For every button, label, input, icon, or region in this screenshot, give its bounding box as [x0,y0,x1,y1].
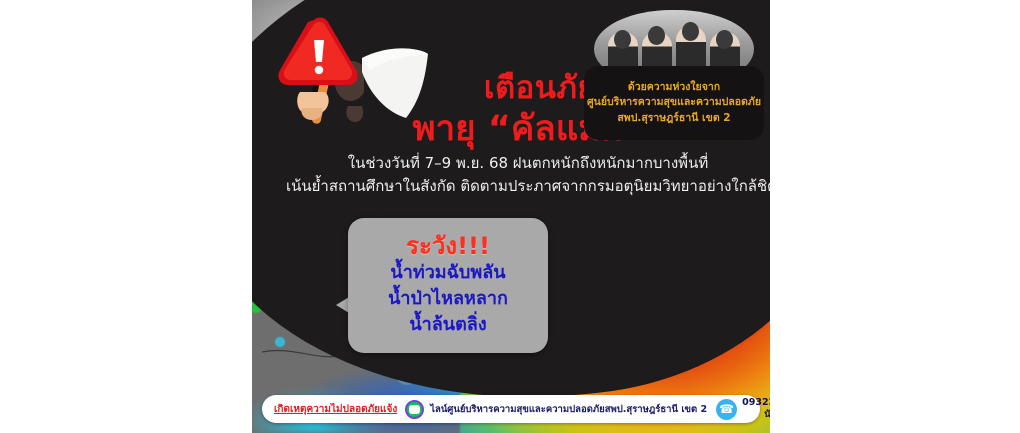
credit-line-3: สพป.สุราษฎร์ธานี เขต 2 [617,111,730,126]
contact-bar[interactable]: เกิดเหตุความไม่ปลอดภัยแจ้ง ไลน์ศูนย์บริห… [262,395,760,423]
screenshot-canvas: Puerto Princesa เตือนภัย พายุ “คัลแมกี” … [0,0,1020,433]
callout-item-0: น้ำท่วมฉับพลัน [390,260,505,286]
phone-role: นักจิตวิทยาโรงเรียนฯ [742,409,770,421]
credit-line-2: ศูนย์บริหารความสุขและความปลอดภัย [587,95,761,110]
credit-text-pill: ด้วยความห่วงใยจาก ศูนย์บริหารความสุขและค… [584,66,764,140]
callout-item-1: น้ำป่าไหลหลาก [388,286,508,312]
phone-number: 0932266415 แก้ว พรหมแก้ว [742,397,770,409]
report-incident-label[interactable]: เกิดเหตุความไม่ปลอดภัยแจ้ง [274,402,397,417]
credit-badge: ด้วยความห่วงใยจาก ศูนย์บริหารความสุขและค… [584,4,764,140]
poster-subtext: ในช่วงวันที่ 7–9 พ.ย. 68 ฝนตกหนักถึงหนัก… [286,152,770,197]
callout-item-2: น้ำล้นตลิ่ง [409,312,486,338]
subtext-line-1: ในช่วงวันที่ 7–9 พ.ย. 68 ฝนตกหนักถึงหนัก… [286,152,770,175]
phone-icon[interactable]: ☎ [716,399,737,420]
line-app-icon[interactable] [405,400,424,419]
flood-warning-callout: ระวัง!!! น้ำท่วมฉับพลัน น้ำป่าไหลหลาก น้… [348,218,548,353]
subtext-line-2: เน้นย้ำสถานศึกษาในสังกัด ติดตามประภาศจาก… [286,175,770,198]
phone-contact[interactable]: 0932266415 แก้ว พรหมแก้ว นักจิตวิทยาโรงเ… [742,397,770,422]
line-account-label[interactable]: ไลน์ศูนย์บริหารความสุขและความปลอดภัยสพป.… [430,402,707,417]
weather-warning-poster: Puerto Princesa เตือนภัย พายุ “คัลแมกี” … [252,0,770,433]
callout-heading: ระวัง!!! [406,233,490,259]
warning-triangle-icon [270,12,368,130]
credit-line-1: ด้วยความห่วงใยจาก [628,80,720,95]
